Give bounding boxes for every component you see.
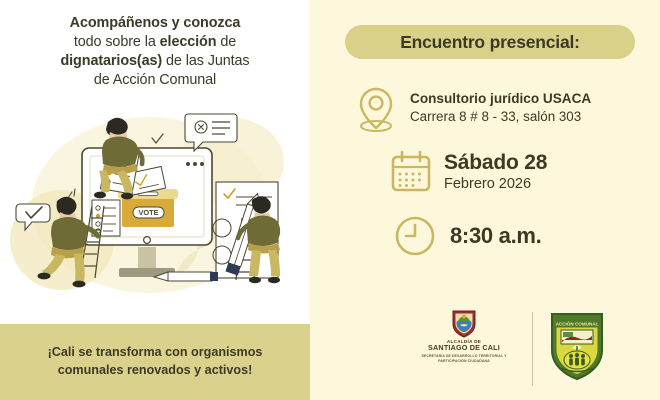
headline-line-1: Acompáñenos y conozca [8, 14, 302, 33]
logo-strip: ALCALDÍA DE SANTIAGO DE CALI SECRETARÍA … [400, 306, 595, 394]
headline-text: todo sobre la [74, 34, 160, 50]
headline-text: Acompáñenos y conozca [70, 15, 241, 31]
banner-line-1: ¡Cali se transforma con organismos [12, 344, 298, 362]
headline-text: de las Juntas [162, 53, 249, 69]
accion-comunal-logo: ACCIÓN COMUNAL [548, 310, 606, 387]
map-pin-icon [352, 82, 400, 134]
venue-row: Consultorio jurídico USACA Carrera 8 # 8… [352, 82, 591, 134]
time-value: 8:30 a.m. [450, 223, 541, 249]
time-row: 8:30 a.m. [392, 212, 541, 260]
shield-top-text: ACCIÓN COMUNAL [556, 319, 599, 326]
ballot-vote-label: VOTE [138, 208, 158, 217]
online-voting-illustration: VOTE [0, 100, 310, 315]
date-row: Sábado 28 Febrero 2026 [388, 148, 547, 196]
headline-text: de Acción Comunal [94, 72, 216, 88]
event-type-badge: Encuentro presencial: [345, 25, 635, 59]
bottom-banner: ¡Cali se transforma con organismos comun… [0, 324, 310, 400]
banner-line-2: comunales renovados y activos! [12, 362, 298, 380]
headline-line-3: dignatarios(as) de las Juntas [8, 52, 302, 71]
headline-emphasis: elección [160, 34, 217, 50]
clock-icon [392, 212, 438, 260]
left-panel: Acompáñenos y conozca todo sobre la elec… [0, 0, 310, 400]
calendar-icon [388, 148, 434, 196]
event-type-label: Encuentro presencial: [400, 32, 580, 53]
poster-root: Acompáñenos y conozca todo sobre la elec… [0, 0, 660, 400]
headline-text: de [216, 34, 236, 50]
cali-logo-line-2: SANTIAGO DE CALI [408, 344, 520, 352]
accion-comunal-shield-icon: ACCIÓN COMUNAL [548, 310, 606, 382]
venue-address: Carrera 8 # 8 - 33, salón 303 [410, 108, 591, 125]
date-day: Sábado 28 [444, 151, 547, 176]
logo-divider [532, 312, 533, 386]
venue-text: Consultorio jurídico USACA Carrera 8 # 8… [410, 90, 591, 125]
date-text: Sábado 28 Febrero 2026 [444, 151, 547, 193]
headline-emphasis: dignatarios(as) [60, 53, 162, 69]
cali-mayor-logo: ALCALDÍA DE SANTIAGO DE CALI SECRETARÍA … [408, 308, 520, 363]
banner-message: ¡Cali se transforma con organismos comun… [12, 344, 298, 379]
page-title: Acompáñenos y conozca todo sobre la elec… [8, 14, 302, 90]
headline-line-4: de Acción Comunal [8, 71, 302, 90]
venue-name: Consultorio jurídico USACA [410, 90, 591, 108]
headline-line-2: todo sobre la elección de [8, 33, 302, 52]
date-month: Febrero 2026 [444, 176, 547, 193]
cali-coat-of-arms-icon [449, 308, 479, 338]
cali-logo-line-3: SECRETARÍA DE DESARROLLO TERRITORIAL Y P… [408, 354, 520, 363]
